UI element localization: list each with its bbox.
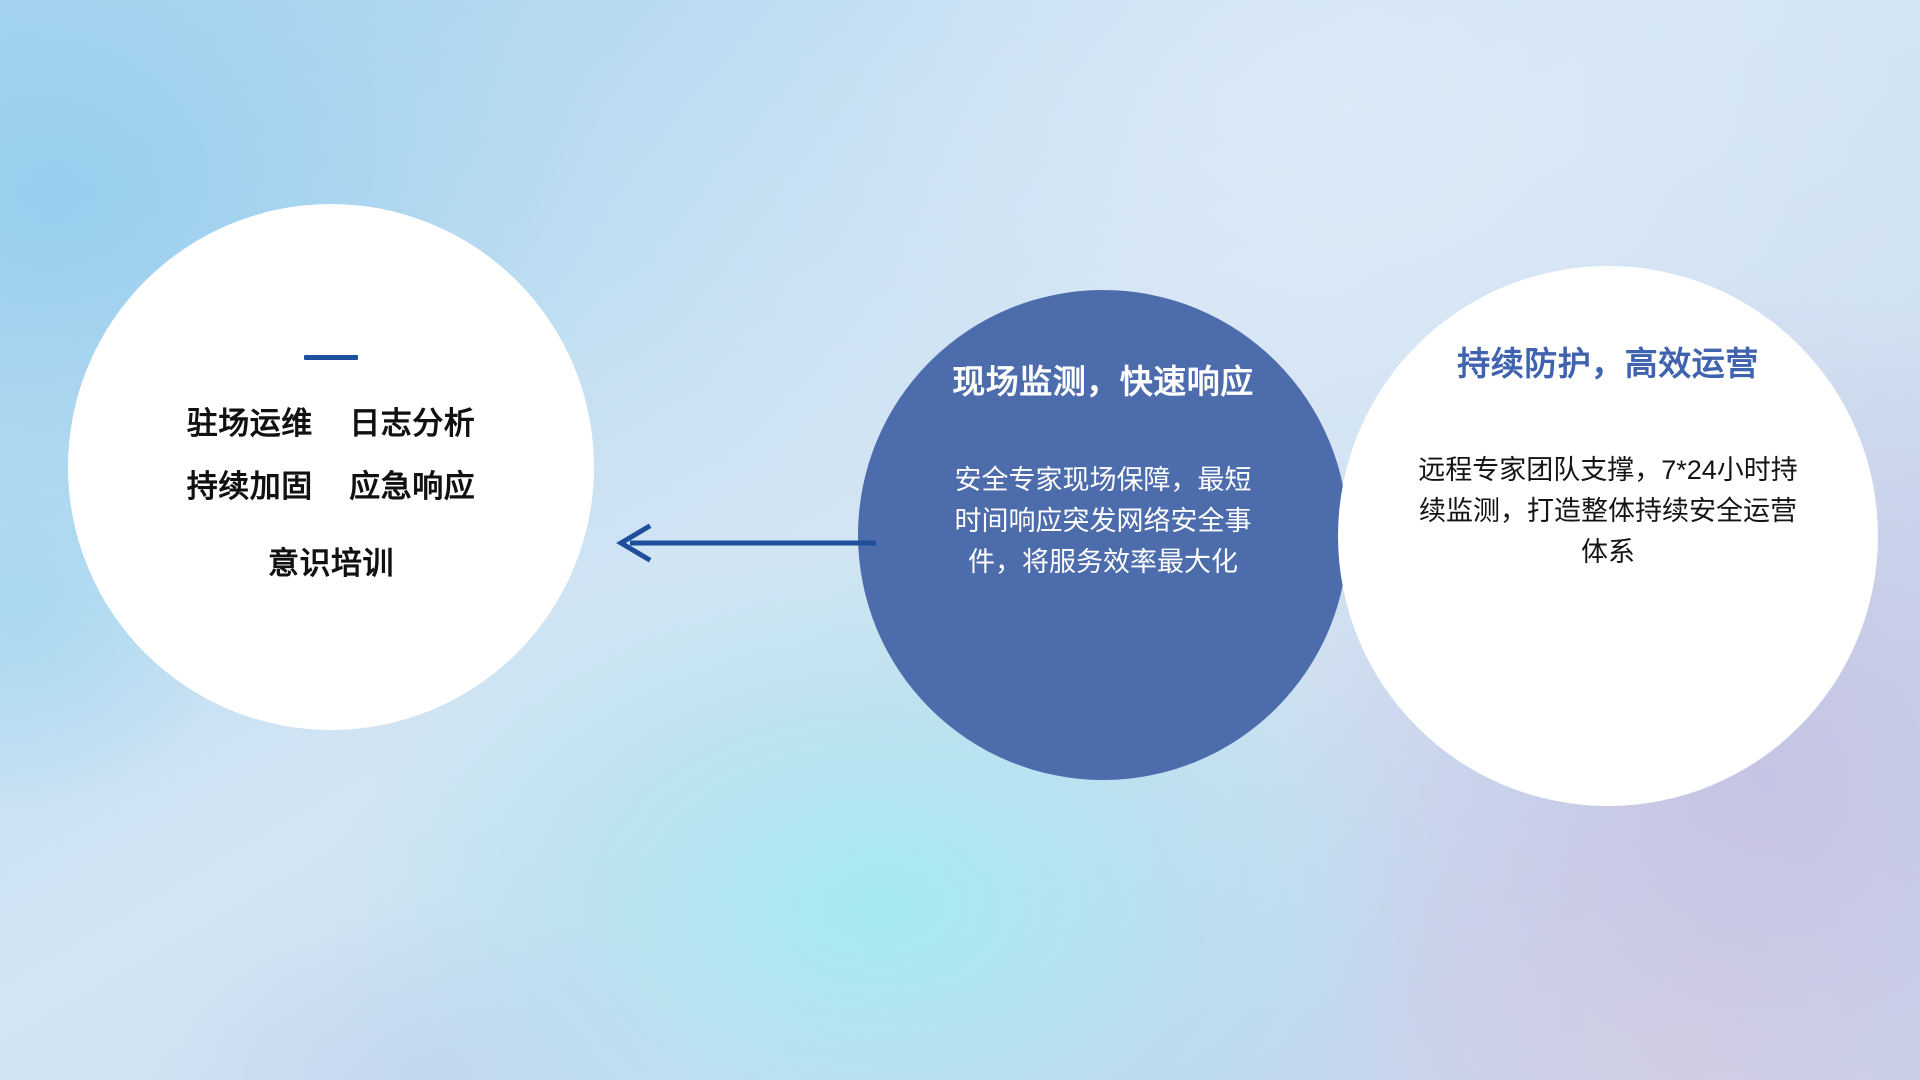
right-circle-body: 远程专家团队支撑，7*24小时持续监测，打造整体持续安全运营体系	[1408, 450, 1808, 573]
service-circle-middle: 现场监测，快速响应 安全专家现场保障，最短时间响应突发网络安全事件，将服务效率最…	[858, 290, 1348, 780]
service-circle-right: 持续防护，高效运营 远程专家团队支撑，7*24小时持续监测，打造整体持续安全运营…	[1338, 266, 1878, 806]
capability-line-1: 驻场运维 日志分析	[187, 408, 475, 439]
divider-dash-icon	[304, 355, 358, 360]
middle-circle-body: 安全专家现场保障，最短时间响应突发网络安全事件，将服务效率最大化	[953, 460, 1253, 583]
capability-circle-left: 驻场运维 日志分析 持续加固 应急响应 意识培训	[68, 204, 594, 730]
left-arrow-icon	[608, 518, 878, 568]
right-circle-title: 持续防护，高效运营	[1457, 344, 1759, 384]
capability-line-2: 持续加固 应急响应	[187, 471, 475, 502]
capability-line-3: 意识培训	[268, 548, 394, 579]
middle-circle-title: 现场监测，快速响应	[952, 362, 1254, 402]
